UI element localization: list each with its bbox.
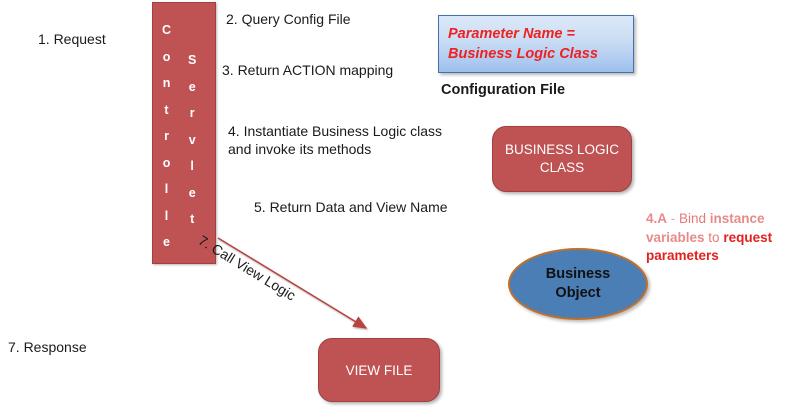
node-business-logic-class[interactable]: BUSINESS LOGIC CLASS — [492, 126, 632, 192]
bind-word-4: to — [708, 230, 723, 245]
label-query-config-file: 2. Query Config File — [226, 10, 351, 28]
config-business-logic-class: Business Logic Class — [448, 44, 633, 64]
diagram-canvas: C o n t r o l l e r S e r v l e t Parame… — [0, 0, 800, 412]
label-response: 7. Response — [8, 338, 87, 356]
node-controller-servlet[interactable]: C o n t r o l l e r S e r v l e t — [152, 2, 216, 264]
label-instantiate-line2: and invoke its methods — [228, 140, 478, 158]
bind-word-3: variables — [646, 230, 708, 245]
node-business-object[interactable]: Business Object — [508, 248, 648, 320]
arrow-call-view — [218, 238, 366, 328]
label-return-data-and-view-name: 5. Return Data and View Name — [254, 198, 448, 216]
bind-word-1: Bind — [679, 211, 710, 226]
bind-word-2: instance — [710, 211, 765, 226]
bind-dash: - — [667, 211, 679, 226]
controller-word-controller: C o n t r o l l e r — [162, 17, 171, 282]
label-instantiate: 4. Instantiate Business Logic class and … — [228, 122, 478, 158]
label-configuration-file: Configuration File — [441, 81, 565, 99]
node-view-file[interactable]: VIEW FILE — [318, 338, 440, 402]
bind-step: 4.A — [646, 211, 667, 226]
config-parameter-name: Parameter Name = — [448, 24, 633, 44]
label-request: 1. Request — [38, 30, 106, 48]
node-configuration-file[interactable]: Parameter Name = Business Logic Class — [438, 15, 634, 73]
bind-word-6: parameters — [646, 248, 719, 263]
label-instantiate-line1: 4. Instantiate Business Logic class — [228, 122, 478, 140]
bind-word-5: request — [723, 230, 772, 245]
business-logic-class-text: BUSINESS LOGIC CLASS — [505, 141, 619, 177]
business-object-text: Business Object — [546, 265, 610, 303]
view-file-label: VIEW FILE — [346, 363, 413, 378]
controller-word-servlet: S e r v l e t — [188, 47, 196, 233]
label-bind-annotation: 4.A - Bind instance variables to request… — [646, 210, 796, 266]
label-return-action-mapping: 3. Return ACTION mapping — [222, 61, 393, 79]
